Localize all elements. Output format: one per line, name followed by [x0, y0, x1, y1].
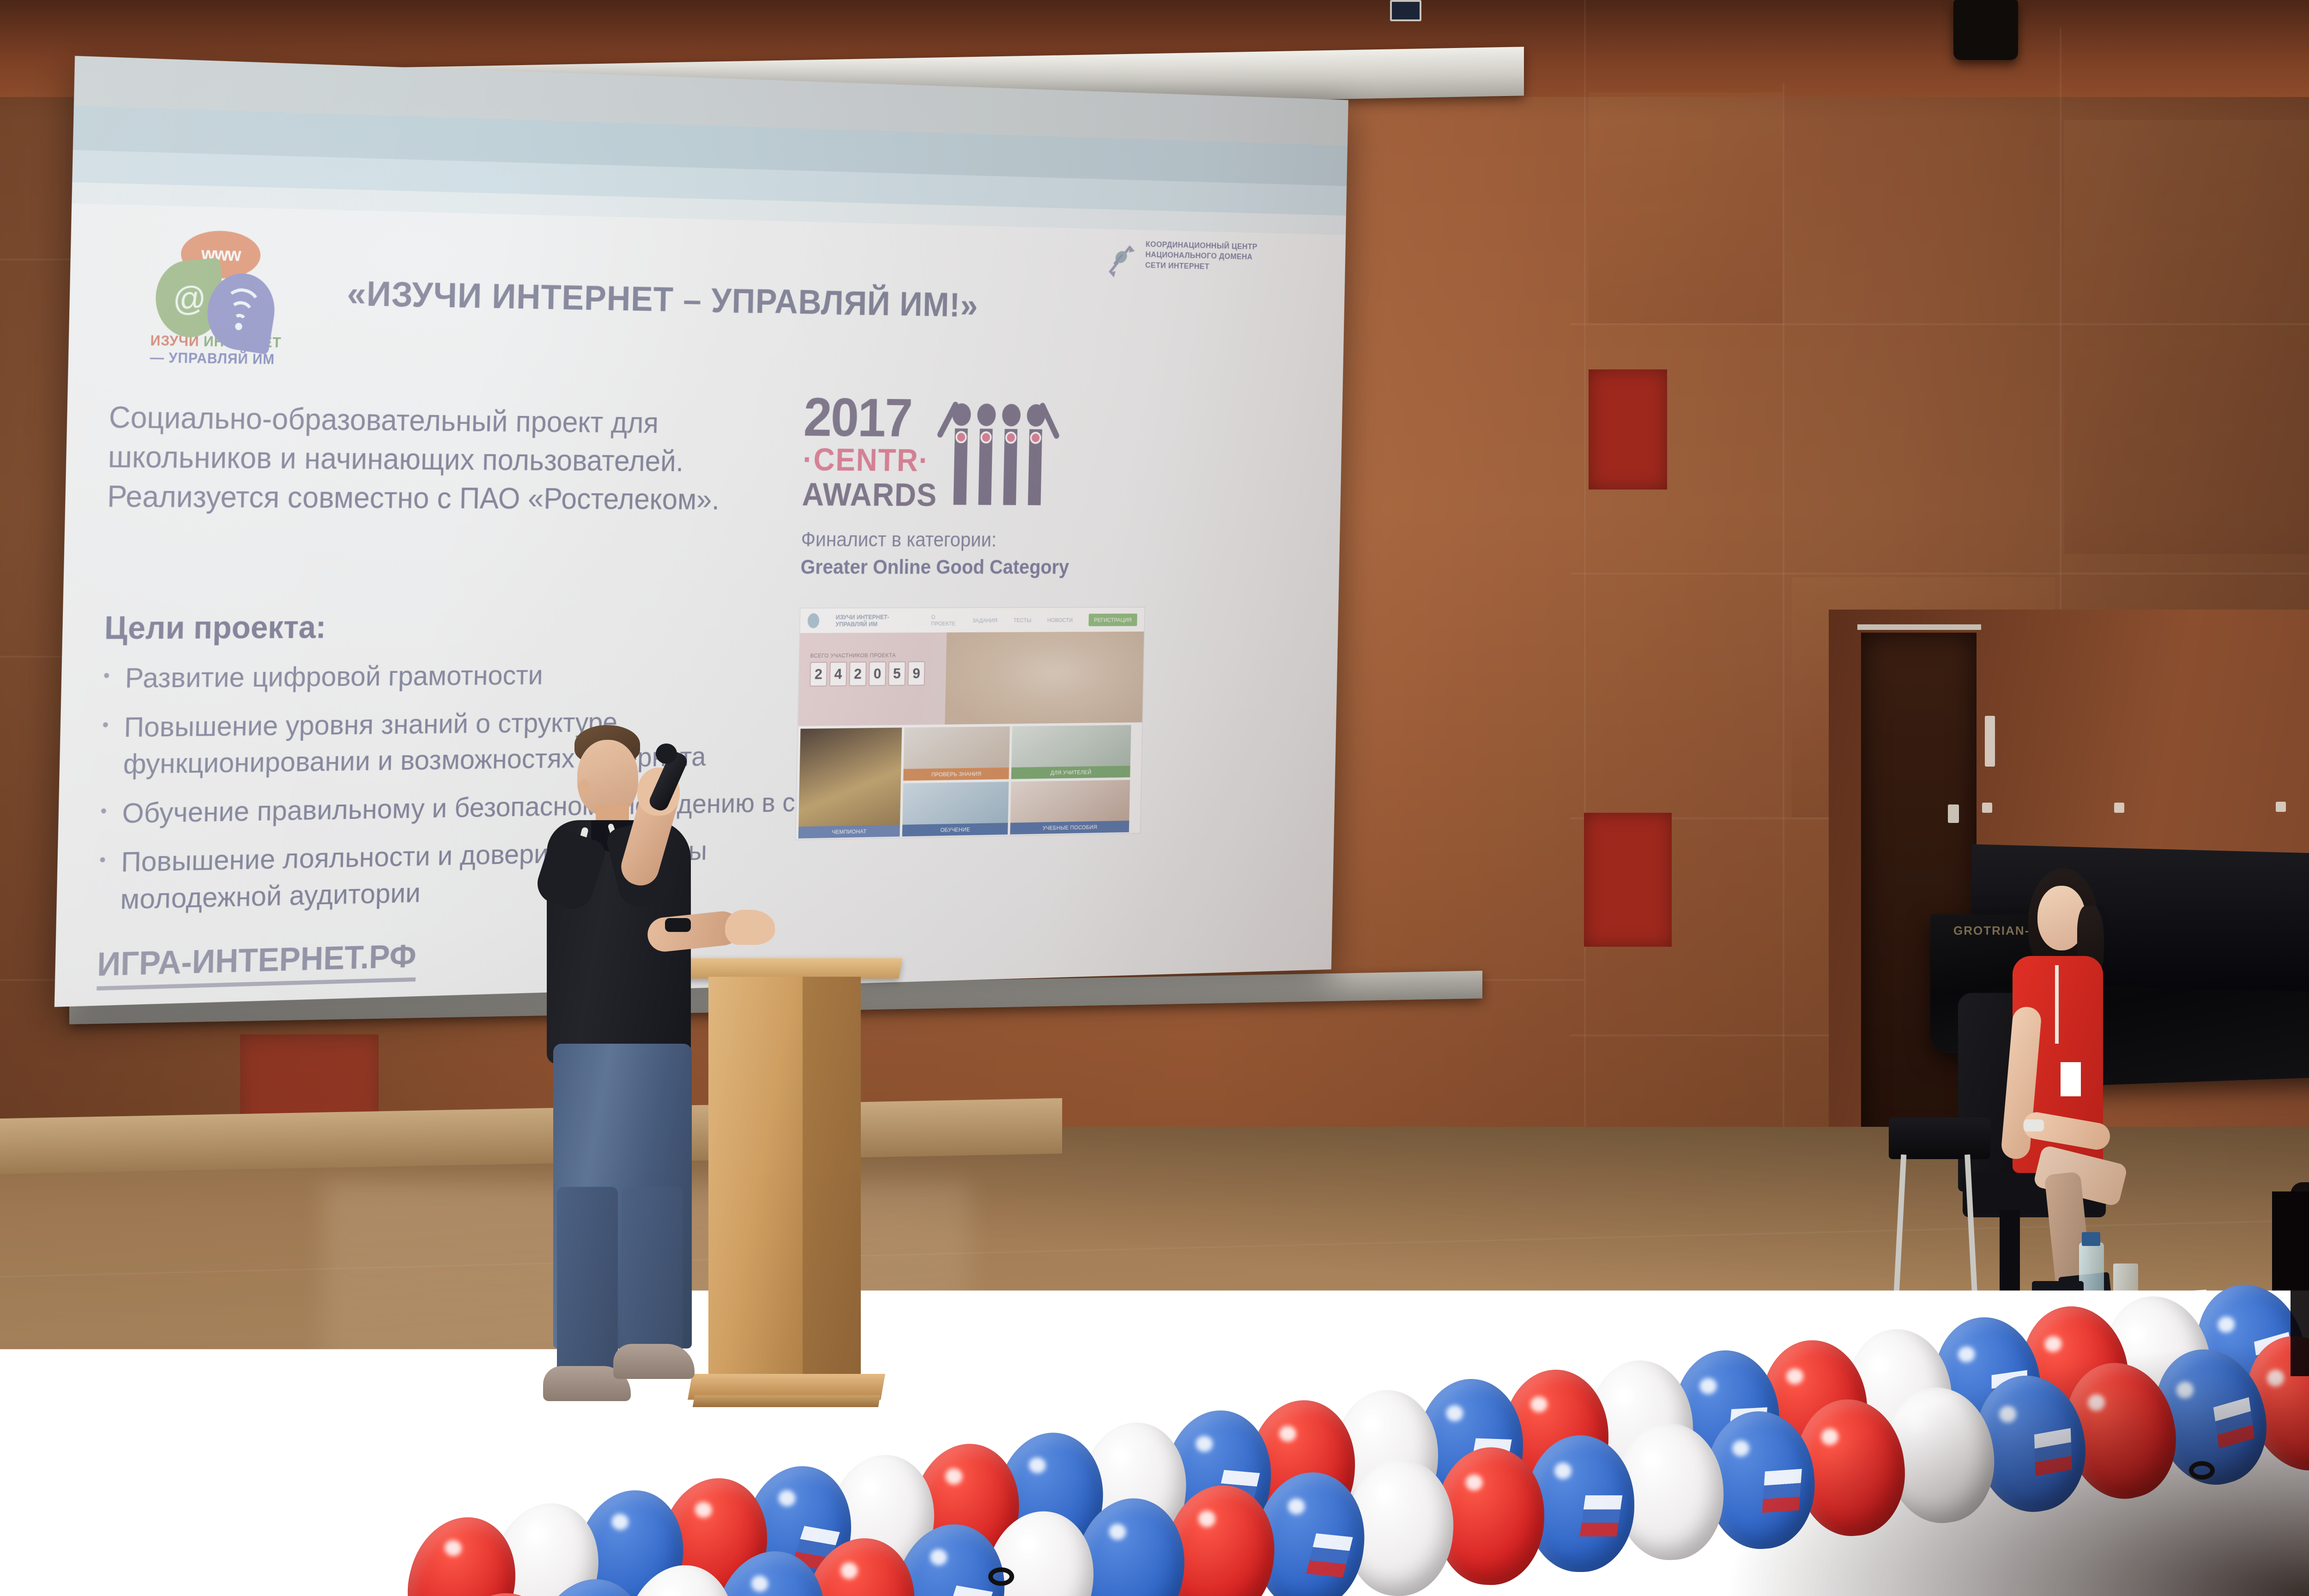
- wall-red-accent: [1584, 813, 1672, 947]
- award-year: 2017: [803, 393, 939, 442]
- award-awards-label: AWARDS: [802, 478, 937, 512]
- balloon: [395, 1506, 529, 1596]
- centr-awards-block: 2017 ·CENTR· AWARDS Финалист в категори: [800, 393, 1149, 580]
- goals-heading: Цели проекта:: [104, 609, 326, 646]
- thumb-card[interactable]: ДЛЯ УЧИТЕЛЕЙ: [1011, 725, 1131, 779]
- participant-counter: 2 4 2 0 5 9: [810, 661, 925, 687]
- thumb-nav-item[interactable]: ЗАДАНИЯ: [972, 617, 997, 623]
- site-link[interactable]: ИГРА-ИНТЕРНЕТ.РФ: [97, 937, 417, 990]
- wall-seam: [1570, 573, 2309, 574]
- wall-seam: [1584, 0, 1586, 1164]
- thumb-card[interactable]: УЧЕБНЫЕ ПОСОБИЯ: [1010, 780, 1130, 834]
- slide-title: «ИЗУЧИ ИНТЕРНЕТ – УПРАВЛЯЙ ИМ!»: [347, 273, 1253, 330]
- wifi-icon: [217, 290, 265, 333]
- satellite-arrow-icon: [1103, 238, 1140, 280]
- website-screenshot: ИЗУЧИ ИНТЕРНЕТ-УПРАВЛЯЙ ИМ О ПРОЕКТЕ ЗАД…: [795, 607, 1145, 840]
- thumb-register-button[interactable]: РЕГИСТРАЦИЯ: [1088, 613, 1137, 626]
- wristband: [665, 918, 691, 932]
- thumb-card[interactable]: ОБУЧЕНИЕ: [902, 782, 1009, 837]
- project-logo: www @ ИЗ: [150, 230, 286, 368]
- counter-digit: 2: [810, 662, 827, 686]
- award-caption: Финалист в категории: Greater Online Goo…: [800, 526, 1147, 580]
- microphone-head: [656, 744, 677, 764]
- presenter-ear: [578, 780, 590, 795]
- counter-digit: 4: [829, 662, 847, 686]
- lanyard: [2055, 965, 2059, 1044]
- piano-stool[interactable]: [1889, 1118, 1990, 1159]
- thumb-nav-item[interactable]: ТЕСТЫ: [1013, 617, 1031, 623]
- award-figures-icon: [949, 403, 1047, 505]
- thumb-logo-text: ИЗУЧИ ИНТЕРНЕТ-УПРАВЛЯЙ ИМ: [835, 613, 915, 628]
- light-switch[interactable]: [2276, 802, 2286, 812]
- award-centr-label: ·CENTR·: [803, 444, 938, 476]
- project-logo-mark: www @: [151, 230, 273, 330]
- counter-digit: 9: [907, 661, 925, 686]
- photo-scene: www @ ИЗ: [0, 0, 2309, 1596]
- thumb-hero: ВСЕГО УЧАСТНИКОВ ПРОЕКТА 2 4 2 0 5 9: [798, 632, 1144, 726]
- thumb-card-caption: ЧЕМПИОНАТ: [798, 825, 900, 839]
- thumb-card-caption: ДЛЯ УЧИТЕЛЕЙ: [1011, 766, 1130, 779]
- wall-seam: [1783, 83, 1784, 1164]
- frame-vignette: [1616, 1337, 2309, 1596]
- balloon-logo: [1306, 1533, 1353, 1578]
- bullet-marker: •: [100, 795, 107, 833]
- thumb-nav-item[interactable]: О ПРОЕКТЕ: [931, 614, 956, 627]
- counter-digit: 2: [849, 662, 866, 686]
- presenter-hand-left: [725, 910, 775, 945]
- coordination-center-logo: КООРДИНАЦИОННЫЙ ЦЕНТР НАЦИОНАЛЬНОГО ДОМЕ…: [1103, 238, 1257, 283]
- light-switch[interactable]: [1948, 804, 1959, 823]
- dark-foreground-object: [2291, 1182, 2309, 1376]
- list-item-label: Развитие цифровой грамотности: [125, 658, 544, 697]
- thumb-hero-photo: [945, 632, 1144, 725]
- award-caption-en: Greater Online Good Category: [800, 553, 1146, 580]
- thumb-card-caption: ПРОВЕРЬ ЗНАНИЯ: [903, 768, 1009, 781]
- at-symbol: @: [171, 280, 208, 317]
- bottle-cap: [2082, 1232, 2100, 1246]
- counter-digit: 5: [888, 661, 906, 686]
- list-item: • Развитие цифровой грамотности: [103, 656, 853, 697]
- counter-digit: 0: [869, 661, 886, 686]
- guest-watch: [2024, 1119, 2044, 1131]
- door-trim: [1857, 624, 1981, 630]
- thumb-logo-icon: [808, 613, 820, 628]
- ceiling-speaker-icon: [1953, 0, 2018, 60]
- balloon-logo: [1579, 1495, 1622, 1536]
- thumb-card-caption: УЧЕБНЫЕ ПОСОБИЯ: [1010, 821, 1129, 834]
- bullet-marker: •: [103, 660, 110, 697]
- light-switch[interactable]: [1982, 803, 1992, 813]
- wall-red-accent: [1589, 369, 1667, 490]
- wall-panel: [1589, 92, 1783, 323]
- thumb-card-caption: ОБУЧЕНИЕ: [902, 823, 1008, 837]
- light-switch[interactable]: [2114, 803, 2124, 813]
- thumb-navbar: ИЗУЧИ ИНТЕРНЕТ-УПРАВЛЯЙ ИМ О ПРОЕКТЕ ЗАД…: [800, 608, 1144, 633]
- partner-logo-text: КООРДИНАЦИОННЫЙ ЦЕНТР НАЦИОНАЛЬНОГО ДОМЕ…: [1145, 239, 1257, 273]
- bullet-marker: •: [101, 709, 109, 784]
- wall-panel: [2064, 120, 2309, 554]
- ceiling-vent: [1390, 0, 1421, 21]
- balloon-logo: [943, 1585, 992, 1596]
- name-badge: [2061, 1062, 2081, 1096]
- thumb-card-grid: ЧЕМПИОНАТ ПРОВЕРЬ ЗНАНИЯ ОБУЧЕНИЕ: [796, 722, 1142, 840]
- wall-fixture: [1985, 716, 1995, 767]
- slide-paragraph: Социально-образовательный проект для шко…: [107, 398, 800, 519]
- award-caption-ru: Финалист в категории:: [801, 526, 1147, 553]
- thumb-card[interactable]: ЧЕМПИОНАТ: [798, 728, 902, 839]
- thumb-card[interactable]: ПРОВЕРЬ ЗНАНИЯ: [903, 726, 1010, 781]
- balloon-clip: [988, 1567, 1014, 1586]
- bullet-marker: •: [98, 845, 106, 919]
- thumb-counter-label: ВСЕГО УЧАСТНИКОВ ПРОЕКТА: [810, 652, 896, 659]
- thumb-nav-item[interactable]: НОВОСТИ: [1047, 617, 1073, 623]
